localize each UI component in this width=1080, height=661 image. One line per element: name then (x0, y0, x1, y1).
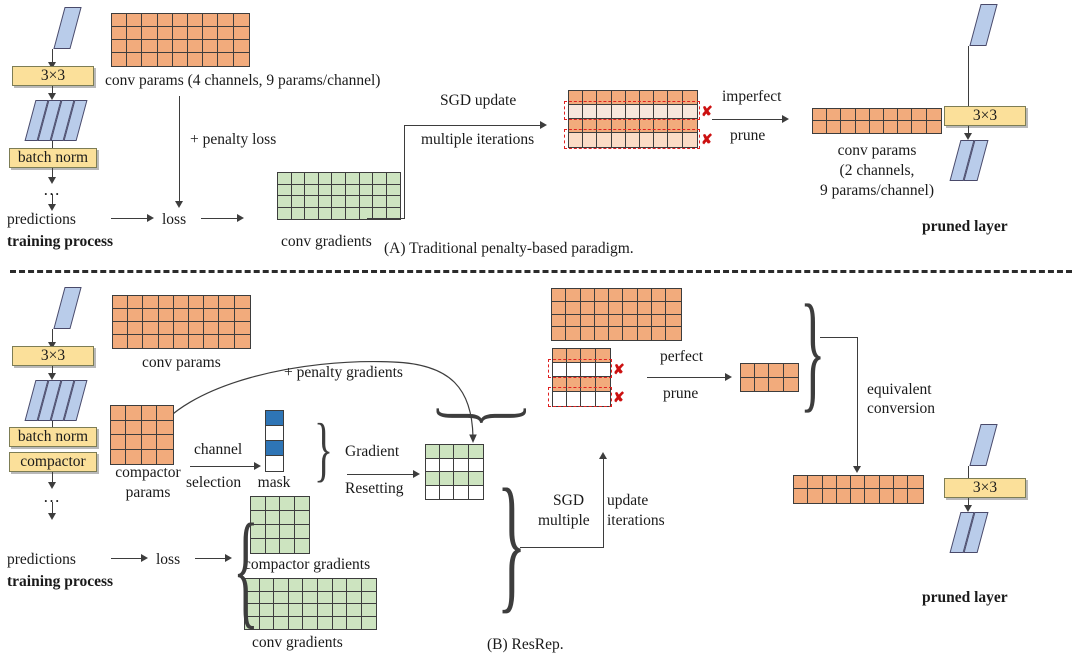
gradient-label-b: Gradient (345, 443, 399, 460)
grid-conv-gradients-b (244, 578, 377, 630)
grid-compactor-gradients-b (250, 496, 310, 554)
sgd-update-label-b2: update (607, 492, 648, 509)
loss-label-a: loss (162, 211, 186, 228)
conn-pred-to-loss-b (111, 558, 143, 559)
pruned-conv-box-a: 3×3 (944, 106, 1026, 126)
penalty-gradients-label-b: + penalty gradients (284, 364, 403, 381)
panel-divider (10, 270, 1072, 273)
conv-box-label-b: 3×3 (41, 347, 65, 365)
grid-mask-b (265, 410, 284, 472)
batchnorm-label-a: batch norm (18, 149, 88, 167)
grid-conv-params-a (111, 13, 250, 67)
feature-map-pruned-input-b (969, 424, 997, 466)
predictions-label-a: predictions (7, 211, 76, 228)
channel-label-b: channel (194, 441, 242, 458)
caption-b: (B) ResRep. (487, 636, 564, 653)
conn-sgd-v-b (603, 455, 604, 548)
conn-loss-to-grads-a (201, 218, 239, 219)
prune-marker-a-row4 (564, 129, 700, 149)
grid-conv-gradients-a (277, 172, 401, 220)
imperfect-label-a: imperfect (722, 88, 781, 105)
conv-gradients-caption-b: conv gradients (252, 634, 343, 651)
penalty-loss-label-a: + penalty loss (190, 131, 276, 148)
batchnorm-label-b: batch norm (18, 428, 88, 446)
brace-under-pruned-b: } (432, 404, 540, 427)
arrowhead-a5 (147, 214, 154, 222)
arrowhead-b7 (254, 462, 261, 470)
pruned-params-caption-a-l3: 9 params/channel) (797, 182, 957, 199)
brace-equivalent-conversion: } (800, 285, 825, 417)
conn-sgd-h-b (520, 547, 603, 548)
predictions-label-b: predictions (7, 551, 76, 568)
training-process-label-a: training process (7, 233, 113, 250)
arrowhead-a4 (48, 204, 56, 211)
grid-pruned-params-a (812, 108, 942, 134)
x-mark-b-1: ✘ (613, 361, 625, 378)
compactor-params-caption-l1: compactor (100, 464, 196, 481)
sgd-update-label-a: SGD update (440, 92, 516, 109)
conn-perfect-prune-b (647, 377, 727, 378)
grid-after-prune-b (740, 363, 799, 392)
pruned-layer-label-a: pruned layer (922, 218, 1008, 235)
arrowhead-b11 (853, 466, 861, 473)
brace-to-sgd: } (497, 466, 526, 618)
conn-penalty-loss-a (179, 96, 180, 204)
arrowhead-b10 (725, 373, 732, 381)
arrowhead-a10 (964, 133, 972, 140)
batchnorm-box-b: batch norm (9, 427, 97, 447)
compactor-params-caption-l2: params (100, 484, 196, 501)
caption-a: (A) Traditional penalty-based paradigm. (384, 240, 634, 257)
batchnorm-box-a: batch norm (9, 148, 97, 168)
final-conv-box-b: 3×3 (944, 478, 1026, 498)
multiple-iterations-label-a: multiple iterations (421, 131, 534, 148)
arrowhead-b6 (225, 554, 232, 562)
prune-label-a: prune (730, 127, 765, 144)
arrowhead-a6 (237, 214, 244, 222)
pruned-params-caption-a-l1: conv params (797, 142, 957, 159)
feature-map-pruned-input-a (969, 4, 997, 46)
arrowhead-a9 (782, 115, 789, 123)
arrowhead-b12 (964, 505, 972, 512)
sgd-update-label-b4: iterations (607, 512, 665, 529)
mask-caption-b: mask (240, 474, 308, 491)
arrowhead-a2 (48, 93, 56, 100)
compactor-gradients-caption-b: compactor gradients (244, 556, 370, 573)
x-mark-b-2: ✘ (613, 389, 625, 406)
training-process-label-b: training process (7, 573, 113, 590)
perfect-label-b: perfect (660, 348, 703, 365)
conv-params-caption-b: conv params (142, 354, 221, 371)
equivalent-conversion-l2: conversion (867, 400, 935, 417)
grid-reset-gradients-b (425, 444, 484, 500)
pruned-conv-label-a: 3×3 (973, 107, 997, 125)
feature-map-input-a (53, 7, 81, 49)
conn-gradient-resetting-b (347, 474, 415, 475)
conn-grads-to-sgd-a (404, 125, 542, 126)
conn-grads-up-a (404, 125, 405, 218)
conn-grads-stub-a (367, 218, 405, 219)
conv-gradients-caption-a: conv gradients (281, 233, 372, 250)
conv-box-b: 3×3 (12, 346, 94, 366)
x-mark-a-1: ✘ (701, 103, 713, 120)
pruned-params-caption-a-l2: (2 channels, (797, 162, 957, 179)
pruned-layer-label-b: pruned layer (922, 589, 1008, 606)
conn-imperfect-prune-a (712, 119, 784, 120)
conv-box-label-a: 3×3 (41, 67, 65, 85)
arrowhead-b9 (599, 452, 607, 459)
grid-final-params-b (793, 475, 924, 504)
arrowhead-b8 (413, 470, 420, 478)
loss-label-b: loss (156, 551, 180, 568)
grid-compactor-params-b (110, 405, 174, 465)
final-conv-label-b: 3×3 (973, 479, 997, 497)
arrowhead-b5 (141, 554, 148, 562)
conn-loss-to-brace-b (195, 558, 227, 559)
conn-pruned-input-a (968, 46, 969, 106)
equivalent-conversion-l1: equivalent (867, 381, 932, 398)
arrowhead-b2 (48, 373, 56, 380)
compactor-box-b: compactor (9, 452, 97, 472)
conv-box-a: 3×3 (12, 66, 94, 86)
grid-conv-params-right-b (551, 288, 682, 341)
brace-loss-grads: { (233, 505, 259, 633)
prune-label-b: prune (663, 385, 698, 402)
sgd-update-label-b3: multiple (538, 512, 590, 529)
conn-eqconv-v-b (857, 337, 858, 469)
resetting-label-b: Resetting (345, 480, 404, 497)
grid-conv-params-b (112, 295, 251, 349)
brace-mask-grads: } (314, 413, 333, 485)
prune-marker-b-row2 (548, 359, 612, 378)
conv-params-caption-a: conv params (4 channels, 9 params/channe… (105, 72, 380, 89)
arrowhead-a7 (175, 201, 183, 208)
conn-eqconv-h-b (820, 337, 857, 338)
sgd-update-label-b1: SGD (553, 492, 584, 509)
feature-map-input-b (53, 287, 81, 329)
arrowhead-a8 (540, 121, 547, 129)
prune-marker-b-row4 (548, 387, 612, 407)
compactor-label-b: compactor (20, 453, 85, 471)
x-mark-a-2: ✘ (701, 131, 713, 148)
selection-label-b: selection (186, 474, 241, 491)
conn-channel-selection-b (190, 466, 256, 467)
prune-marker-a-row2 (564, 101, 700, 120)
conn-pred-to-loss-a (111, 218, 149, 219)
arrowhead-b4 (48, 513, 56, 520)
